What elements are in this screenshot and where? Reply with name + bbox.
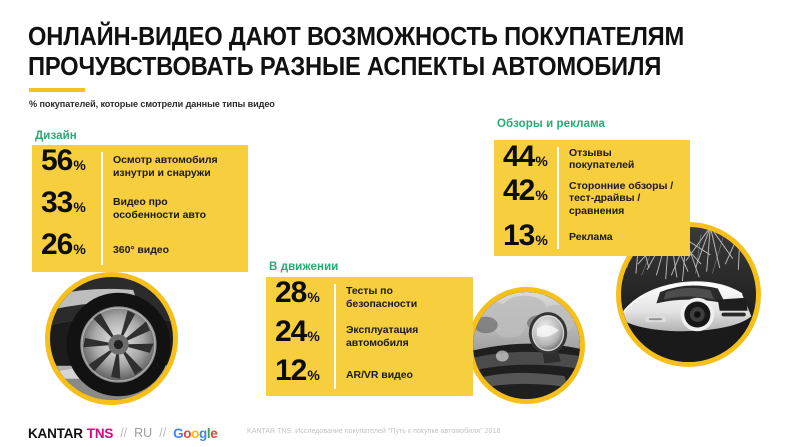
page-title-line-1: ОНЛАЙН-ВИДЕО ДАЮТ ВОЗМОЖНОСТЬ ПОКУПАТЕЛЯ… — [28, 22, 698, 52]
stat-number: 26 — [41, 230, 72, 260]
stat-value-design-1: 33% — [41, 188, 101, 230]
stat-value-in-motion-0: 28% — [275, 278, 334, 317]
car-side-mirror-image — [473, 292, 580, 399]
google-logo-letter: o — [183, 426, 191, 441]
stat-label-in-motion-2: AR/VR видео — [346, 356, 473, 395]
stat-value-design-0: 56% — [41, 146, 101, 188]
stat-panel-reviews-ads: 44% 42% 13% Отзывы покупателей Сторонние… — [494, 140, 690, 256]
stat-value-design-2: 26% — [41, 230, 101, 272]
stat-percent-sign: % — [535, 233, 547, 247]
stat-percent-sign: % — [73, 158, 85, 172]
stat-value-in-motion-2: 12% — [275, 356, 334, 395]
stat-panel-design: 56% 33% 26% Осмотр автомобиля изнутри и … — [32, 145, 248, 272]
stat-number: 28 — [275, 278, 306, 308]
footer-separator-1: // — [120, 426, 127, 440]
stat-number: 56 — [41, 146, 72, 176]
page-title: ОНЛАЙН-ВИДЕО ДАЮТ ВОЗМОЖНОСТЬ ПОКУПАТЕЛЯ… — [28, 22, 748, 82]
footer-region-label: RU — [134, 426, 152, 440]
stat-value-in-motion-1: 24% — [275, 317, 334, 356]
panel-heading-in-motion: В движении — [269, 261, 338, 273]
google-logo-letter: G — [173, 426, 183, 441]
stat-values-design: 56% 33% 26% — [32, 145, 101, 272]
stat-number: 13 — [503, 221, 534, 251]
stat-label-design-1: Видео про особенности авто — [113, 188, 248, 230]
google-logo-letter: e — [210, 426, 217, 441]
stat-label-in-motion-1: Эксплуатация автомобиля — [346, 317, 473, 356]
stat-number: 44 — [503, 142, 534, 172]
stat-percent-sign: % — [535, 188, 547, 202]
stat-number: 12 — [275, 356, 306, 386]
google-logo-letter: o — [191, 426, 199, 441]
stat-value-reviews-1: 42% — [503, 176, 557, 221]
subtitle: % покупателей, которые смотрели данные т… — [29, 99, 275, 110]
stat-values-in-motion: 28% 24% 12% — [266, 277, 334, 396]
stat-label-design-2: 360° видео — [113, 230, 248, 272]
tns-logo-text: TNS — [87, 426, 113, 441]
stat-values-reviews-ads: 44% 42% 13% — [494, 140, 557, 256]
car-wheel-image — [50, 277, 173, 400]
google-logo: Google — [173, 426, 217, 441]
stat-percent-sign: % — [73, 242, 85, 256]
stat-value-reviews-0: 44% — [503, 142, 557, 176]
stat-percent-sign: % — [307, 329, 319, 343]
stat-percent-sign: % — [535, 154, 547, 168]
stat-label-reviews-1: Сторонние обзоры / тест-драйвы / сравнен… — [569, 176, 690, 221]
car-side-mirror-photo — [468, 287, 585, 404]
stat-percent-sign: % — [307, 290, 319, 304]
stat-number: 42 — [503, 176, 534, 206]
footer-branding: KANTAR TNS // RU // Google — [28, 424, 217, 442]
footer-separator-2: // — [159, 426, 166, 440]
car-wheel-photo — [45, 272, 178, 405]
stat-percent-sign: % — [73, 200, 85, 214]
source-note: KANTAR TNS. Исследование покупателей "Пу… — [247, 428, 500, 435]
stat-label-reviews-2: Реклама — [569, 221, 690, 254]
stat-label-in-motion-0: Тесты по безопасности — [346, 278, 473, 317]
stat-labels-reviews-ads: Отзывы покупателей Сторонние обзоры / те… — [559, 140, 690, 256]
panel-heading-reviews-ads: Обзоры и реклама — [497, 118, 605, 130]
kantar-logo-text: KANTAR — [28, 426, 83, 441]
panel-heading-design: Дизайн — [35, 130, 77, 142]
google-logo-letter: g — [199, 426, 207, 441]
stat-labels-in-motion: Тесты по безопасности Эксплуатация автом… — [336, 277, 473, 396]
stat-panel-in-motion: 28% 24% 12% Тесты по безопасности Эксплу… — [266, 277, 473, 396]
stat-number: 33 — [41, 188, 72, 218]
stat-label-reviews-0: Отзывы покупателей — [569, 142, 690, 176]
page-title-line-2: ПРОЧУВСТВОВАТЬ РАЗНЫЕ АСПЕКТЫ АВТОМОБИЛЯ — [28, 52, 698, 82]
title-accent-bar — [29, 88, 85, 92]
stat-labels-design: Осмотр автомобиля изнутри и снаружи Виде… — [103, 145, 248, 272]
stat-value-reviews-2: 13% — [503, 221, 557, 254]
stat-number: 24 — [275, 317, 306, 347]
stat-label-design-0: Осмотр автомобиля изнутри и снаружи — [113, 146, 248, 188]
stat-percent-sign: % — [307, 368, 319, 382]
